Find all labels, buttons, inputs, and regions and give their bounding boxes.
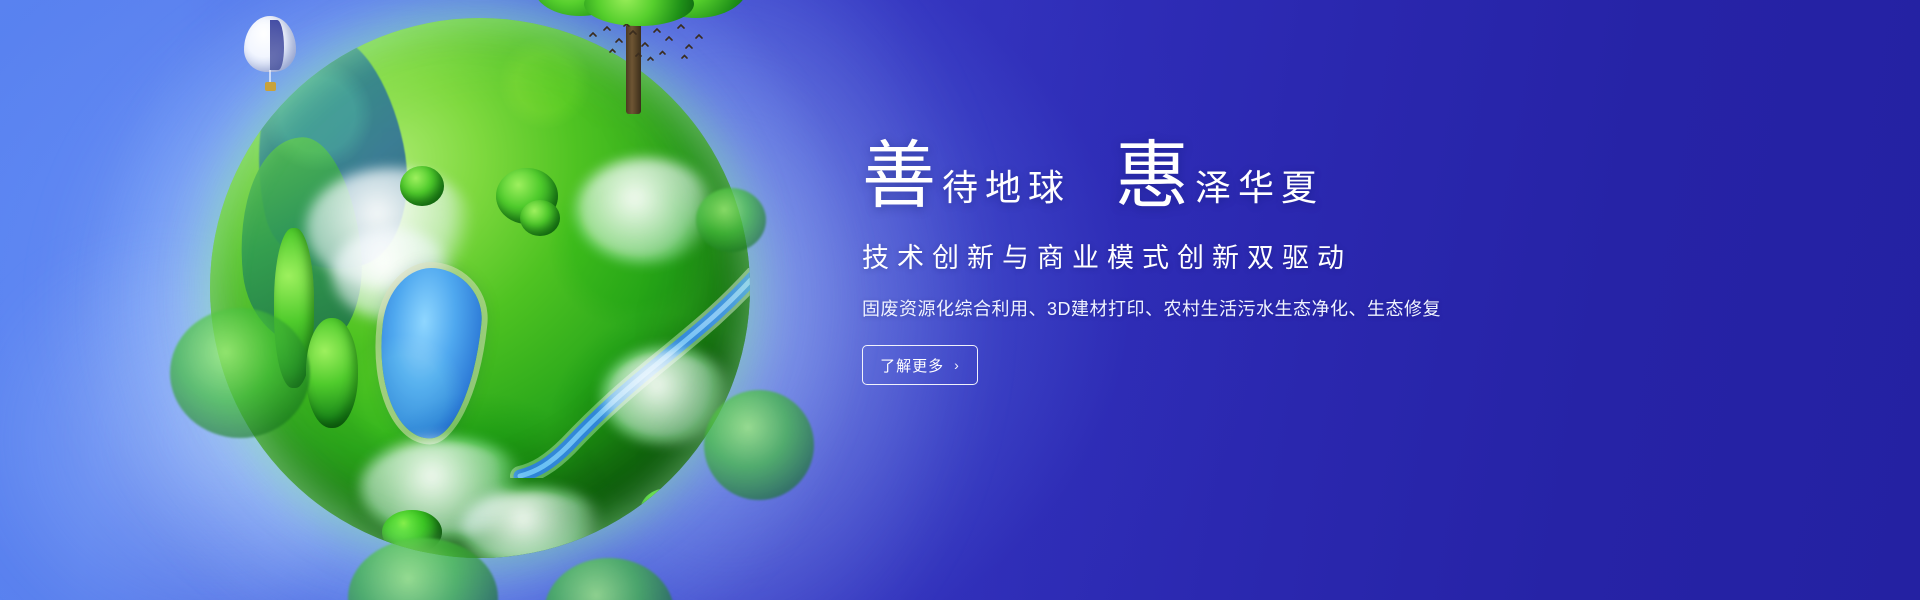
eco-hero-banner: 善 待地球 惠 泽华夏 技术创新与商业模式创新双驱动 固废资源化综合利用、3D建… xyxy=(0,0,1920,600)
headline: 善 待地球 惠 泽华夏 xyxy=(862,128,1502,214)
cloud-icon xyxy=(576,158,716,263)
subtitle: 技术创新与商业模式创新双驱动 xyxy=(862,236,1502,275)
bush-icon xyxy=(400,166,444,206)
bush-icon xyxy=(306,318,358,428)
headline-part1-large: 善 xyxy=(862,140,936,214)
globe-illustration xyxy=(148,0,808,600)
cloud-icon xyxy=(306,168,476,288)
tree-silhouette-icon xyxy=(696,188,766,252)
lake-icon xyxy=(371,263,486,442)
hero-content: 善 待地球 惠 泽华夏 技术创新与商业模式创新双驱动 固废资源化综合利用、3D建… xyxy=(862,128,1502,385)
chevron-right-icon: › xyxy=(954,358,960,372)
balloon-basket xyxy=(265,82,276,91)
tree-silhouette-icon xyxy=(704,390,814,500)
balloon-stripe xyxy=(270,20,284,70)
headline-part1-small: 待地球 xyxy=(942,170,1071,214)
headline-part2-small: 泽华夏 xyxy=(1195,170,1324,214)
headline-part2-large: 惠 xyxy=(1115,140,1189,214)
bush-icon xyxy=(640,488,696,534)
tree-silhouette-icon xyxy=(170,308,310,438)
description: 固废资源化综合利用、3D建材打印、农村生活污水生态净化、生态修复 xyxy=(862,295,1502,321)
cloud-icon xyxy=(460,488,610,558)
learn-more-button[interactable]: 了解更多 › xyxy=(862,345,978,385)
learn-more-label: 了解更多 xyxy=(880,355,944,376)
cloud-icon xyxy=(360,438,530,538)
bird-flock-icon xyxy=(586,24,706,66)
bush-icon xyxy=(520,200,560,236)
hot-air-balloon-icon xyxy=(244,16,296,96)
cloud-icon xyxy=(332,228,452,320)
tree-canopy xyxy=(584,0,694,26)
bush-icon xyxy=(496,168,558,224)
